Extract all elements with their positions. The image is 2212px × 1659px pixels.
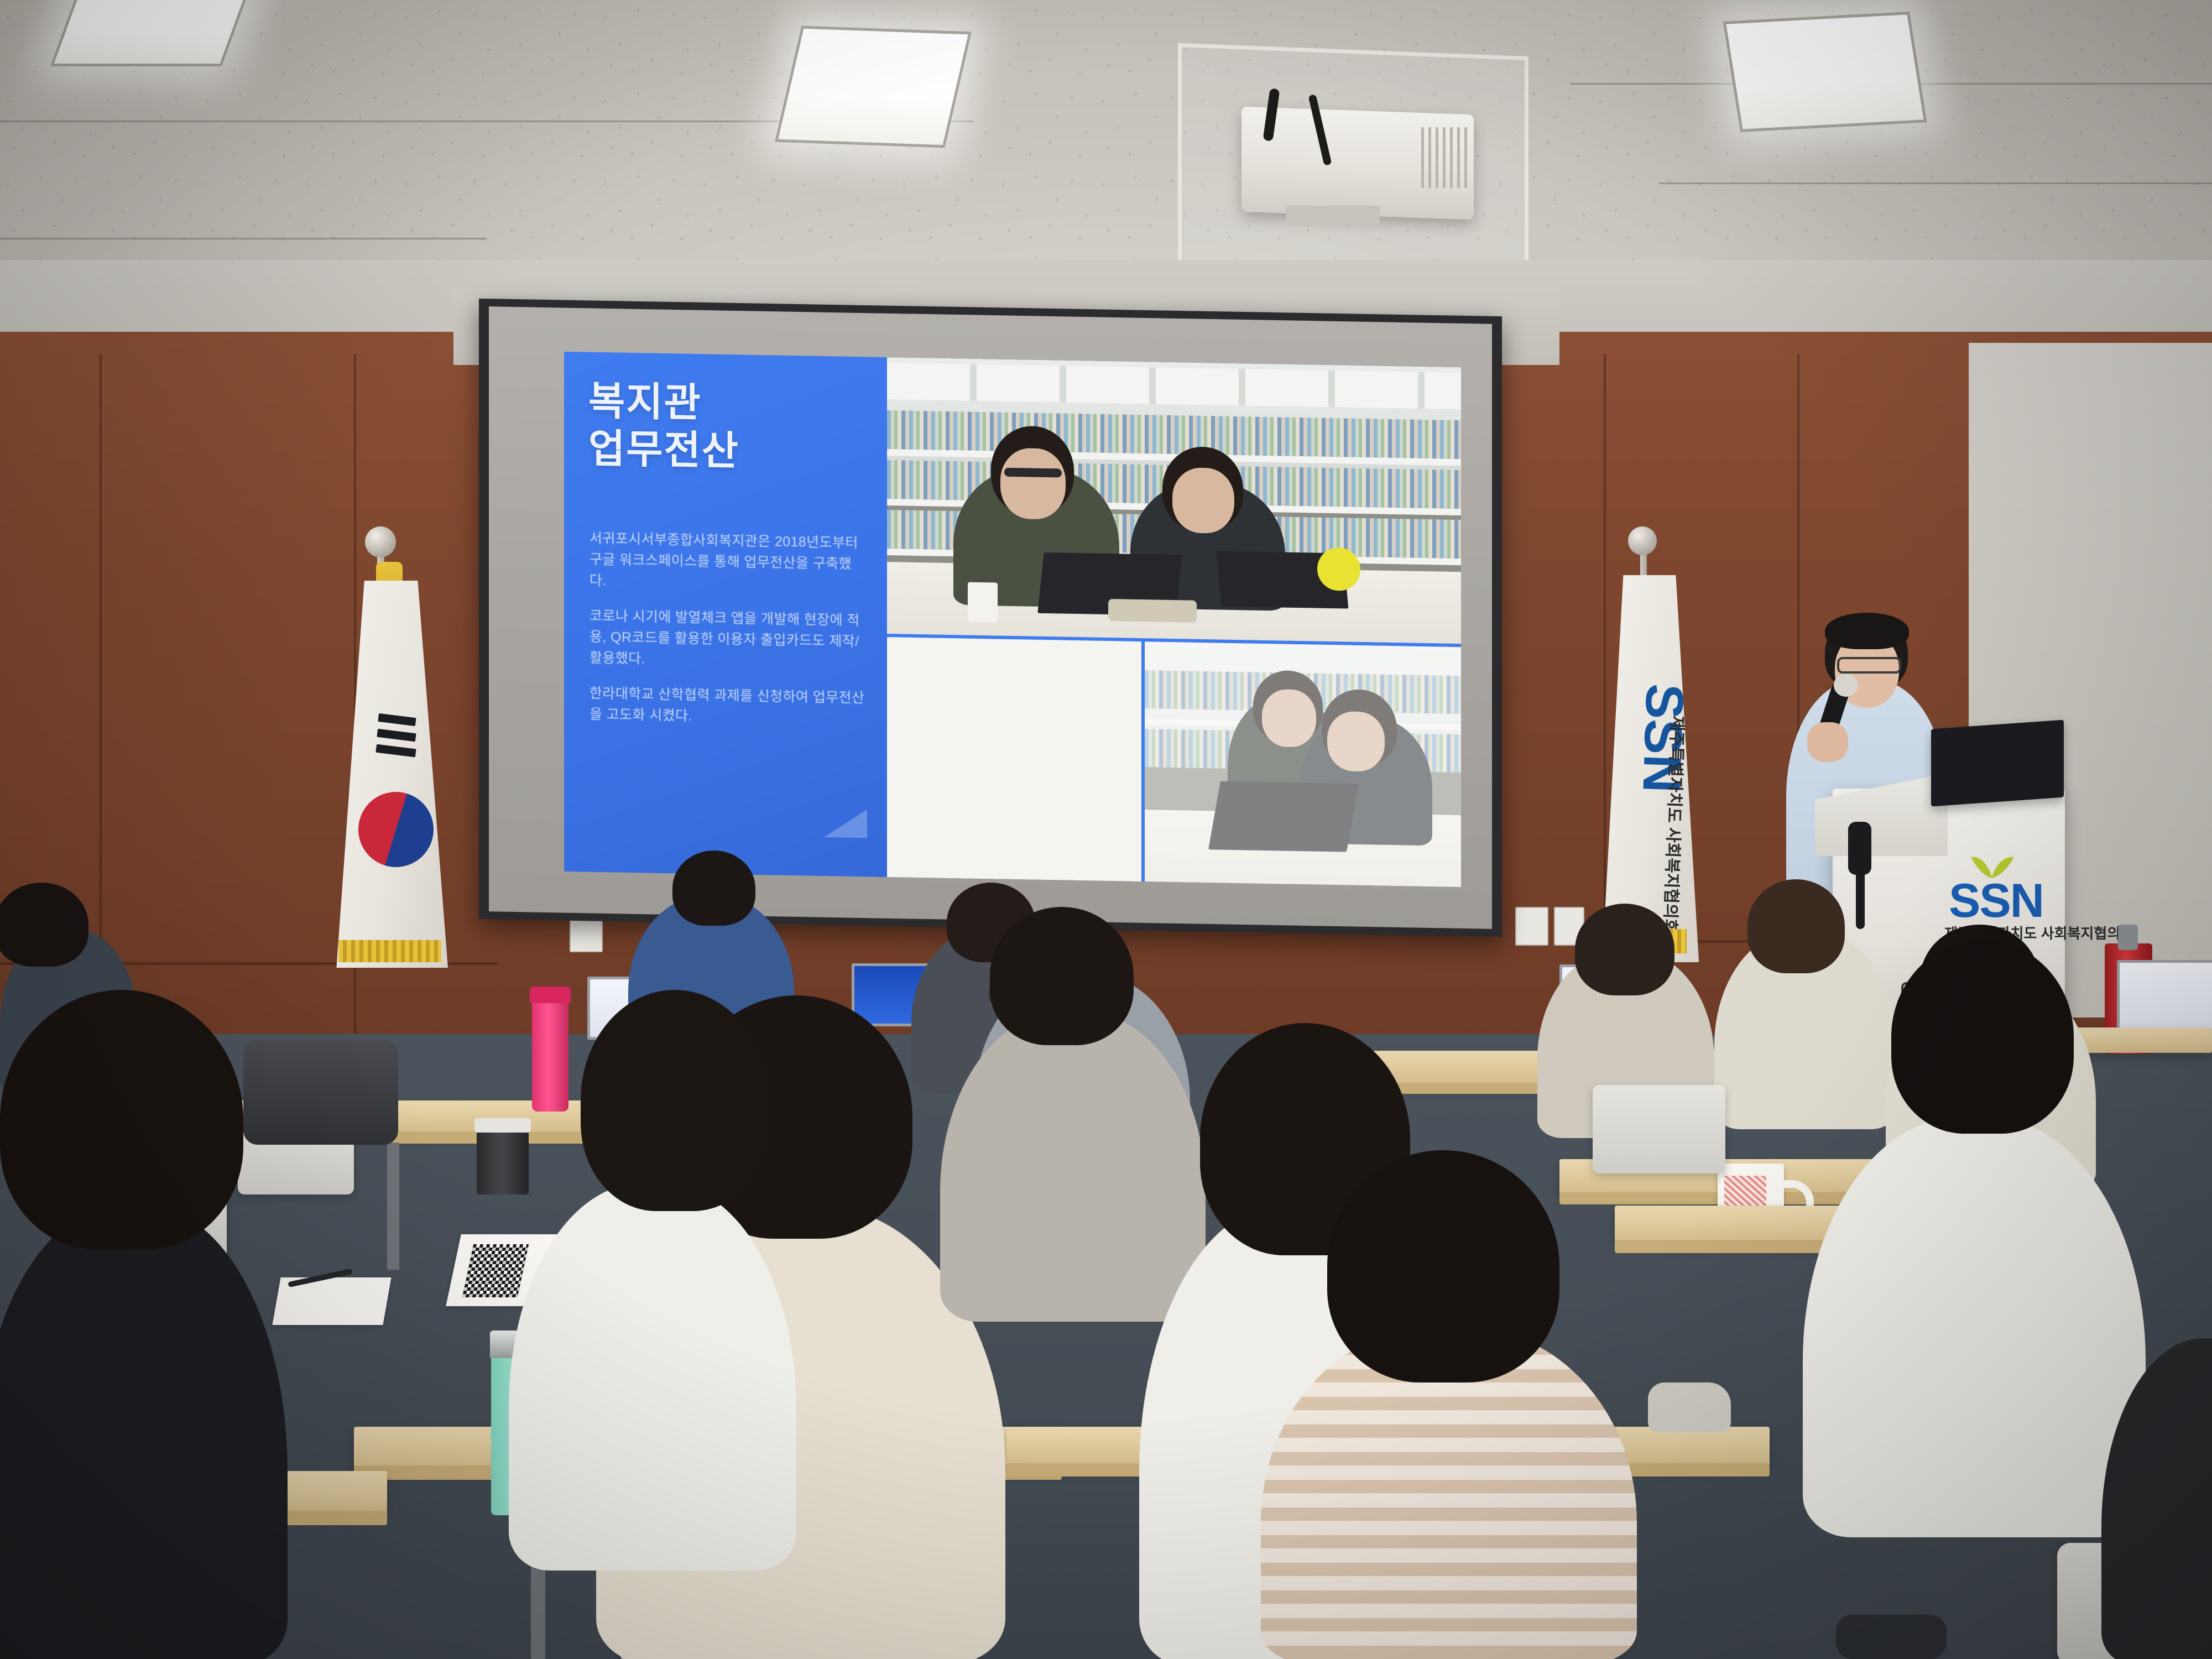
ceiling-seam [1659,182,2212,184]
ceiling-seam [0,238,487,239]
slide-triangle-decor [824,808,867,838]
extinguisher-neck [2118,925,2138,950]
qr-code [462,1244,529,1297]
audience-hair [0,883,88,967]
photo-mug [968,582,998,623]
slide-body-text: 서귀포시서부종합사회복지관은 2018년도부터 구글 워크스페이스를 통해 업무… [589,528,866,744]
audience-person-front [940,1012,1206,1322]
side-laptop[interactable] [2117,960,2212,1032]
desk-leg [387,1142,399,1270]
podium-laptop[interactable] [1931,720,2064,807]
presentation-room-photo: 복지관 업무전산 서귀포시서부종합사회복지관은 2018년도부터 구글 워크스페… [0,0,2212,1659]
slide-title-line-2: 업무전산 [588,426,739,475]
slide-photo-white-panel [887,637,1141,881]
side-desk [2068,1027,2212,1053]
speaker-glasses [1837,657,1901,674]
tumbler-rim [474,1118,531,1133]
slide-photo-library-top [887,357,1461,644]
ceiling-light-panel [50,0,254,66]
shoe [1648,1383,1731,1432]
podium-logo-text: SSN [1949,874,2043,928]
taegeuk-circle [345,779,447,880]
slide-paragraph: 서귀포시서부종합사회복지관은 2018년도부터 구글 워크스페이스를 통해 업무… [589,528,866,596]
black-tumbler [477,1125,529,1194]
audience-hair [672,851,755,926]
slide: 복지관 업무전산 서귀포시서부종합사회복지관은 2018년도부터 구글 워크스페… [564,352,1461,887]
slide-paragraph: 코로나 시기에 발열체크 앱을 개발해 현장에 적용, QR코드를 활용한 이용… [589,606,866,674]
projector-lens [1286,206,1380,226]
audience-hair [1747,879,1845,973]
slide-paragraph: 한라대학교 산학협력 과제를 신청하여 업무전산을 고도화 시켰다. [589,683,866,730]
slide-photo-library-bottom [1145,641,1461,887]
speaker-hair-top [1825,613,1909,649]
microphone-head [1834,674,1858,697]
banner-finial [1628,526,1657,555]
shoe [1836,1615,1947,1659]
audience-hair [1891,940,2074,1134]
speaker-hand [1807,722,1848,762]
projector-vent [1421,127,1471,188]
slide-title-line-1: 복지관 [588,379,702,427]
photo-yellow-marker [1317,547,1360,591]
ceiling-light-panel [775,26,972,148]
podium-mic-capsule [1848,822,1871,875]
audience-hair [581,990,769,1211]
ceiling-light-panel [1723,12,1927,132]
audience-hair [990,907,1134,1045]
pink-water-bottle [532,995,568,1112]
audience-hair [1575,904,1674,995]
flag-fringe [338,940,441,962]
audience-hair [0,990,243,1250]
chair[interactable] [1593,1085,1725,1173]
flag-finial [365,526,396,557]
bottle-cap [530,987,571,1003]
backpack [243,1040,398,1145]
audience-hair [1327,1150,1559,1383]
wall-outlet[interactable] [1515,907,1548,946]
